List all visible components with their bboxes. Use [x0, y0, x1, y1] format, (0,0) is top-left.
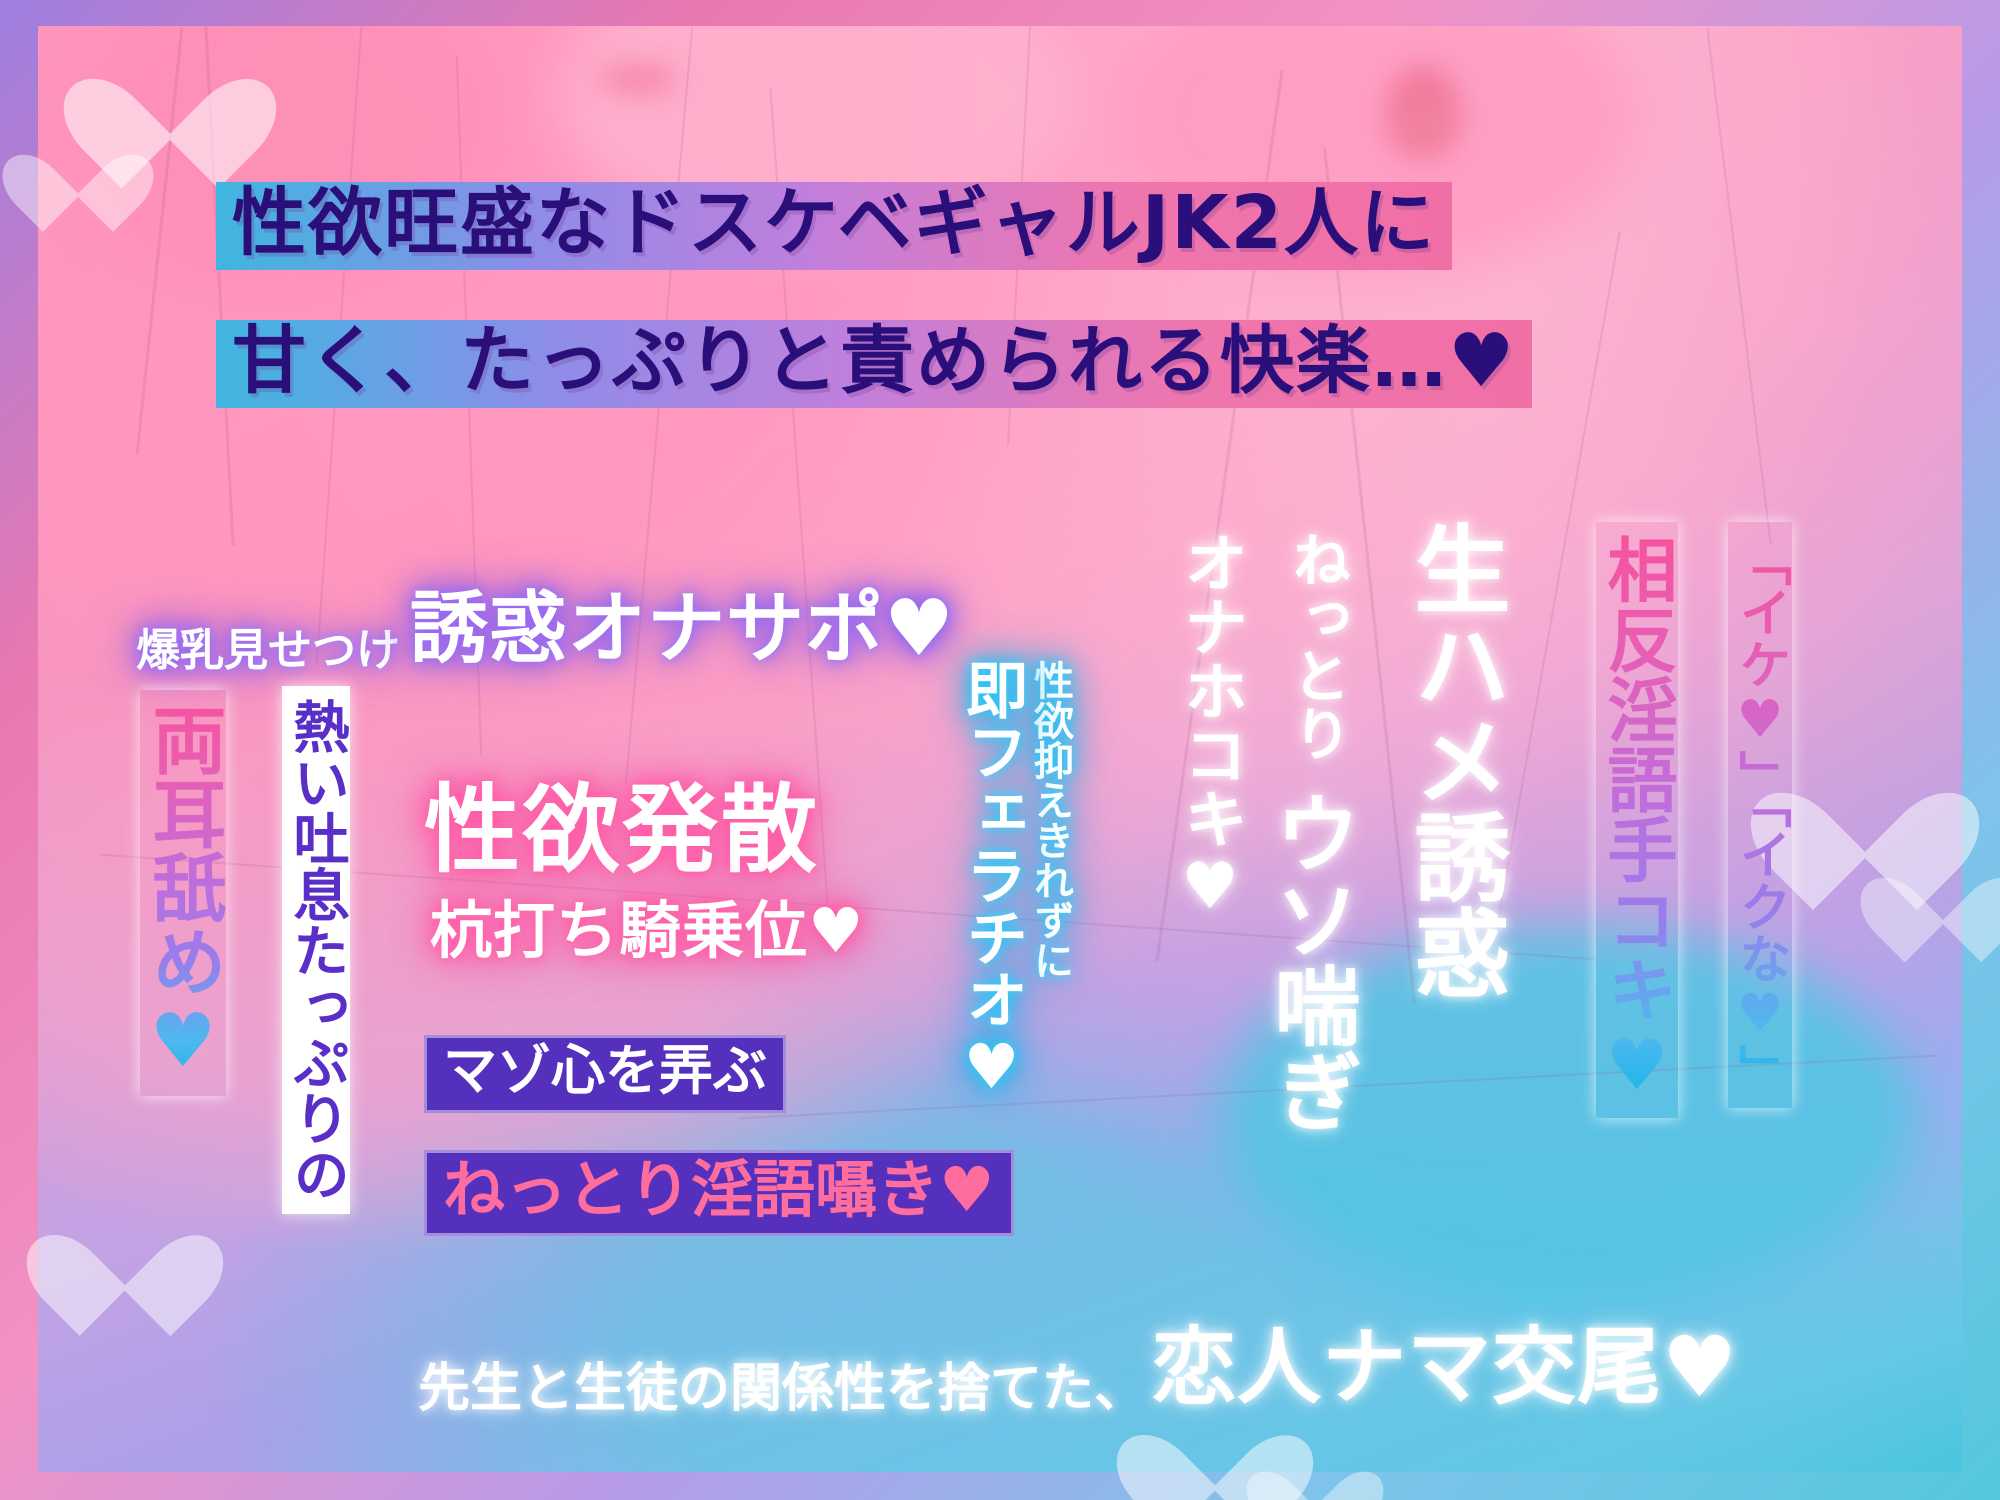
text-overlay-layer: 性欲旺盛なドスケベギャルJK2人に 甘く、たっぷりと責められる快楽…♥ 爆乳見せ… [0, 0, 2000, 1500]
onahokoki-label: オナホコキ♥ [1178, 530, 1242, 924]
restrain-small-label: 性欲抑えきれずに [1030, 660, 1070, 980]
onasapo-small-label: 爆乳見せつけ [136, 614, 400, 678]
bottom-row: 先生と生徒の関係性を捨てた、 恋人ナマ交尾♥ [418, 1300, 1738, 1421]
main-title-line1-wrapper: 性欲旺盛なドスケベギャルJK2人に [216, 182, 1452, 270]
hot-breath-label: 熱い吐息たっぷりの [284, 698, 349, 1202]
nettori-ingo-label: ねっとり淫語囁き♥ [424, 1150, 1014, 1236]
both-ears-label: 両耳舐め♥ [140, 702, 226, 1084]
bottom-small-label: 先生と生徒の関係性を捨てた、 [418, 1346, 1146, 1421]
nettori-uso-large-label: ウソ喘ぎ [1266, 790, 1352, 1134]
ike-ikuna-label: 「イケ♥」「イクな♥」 [1730, 534, 1790, 1096]
nettori-ingo-box-wrapper: ねっとり淫語囁き♥ [424, 1150, 1014, 1236]
main-title-line2-wrapper: 甘く、たっぷりと責められる快楽…♥ [216, 320, 1532, 408]
both-ears-box: 両耳舐め♥ [140, 690, 226, 1096]
seiyoku-hassan-label: 性欲発散 [424, 752, 820, 891]
mazo-box-wrapper: マゾ心を弄ぶ [424, 1035, 786, 1113]
main-title-line2: 甘く、たっぷりと責められる快楽…♥ [216, 320, 1532, 408]
souhan-box: 相反淫語手コキ♥ [1596, 522, 1678, 1118]
souhan-label: 相反淫語手コキ♥ [1596, 534, 1678, 1106]
banner-canvas: 性欲旺盛なドスケベギャルJK2人に 甘く、たっぷりと責められる快楽…♥ 爆乳見せ… [0, 0, 2000, 1500]
bottom-large-label: 恋人ナマ交尾♥ [1152, 1300, 1738, 1421]
kuiuchi-label: 杭打ち騎乗位♥ [430, 880, 865, 970]
onasapo-large-label: 誘惑オナサポ♥ [410, 566, 955, 678]
mazo-label: マゾ心を弄ぶ [424, 1035, 786, 1113]
main-title-line1: 性欲旺盛なドスケベギャルJK2人に [216, 182, 1452, 270]
soku-fera-label: 即フェラチオ♥ [960, 658, 1022, 1103]
onasapo-row: 爆乳見せつけ 誘惑オナサポ♥ [136, 566, 955, 678]
hot-breath-box: 熱い吐息たっぷりの [282, 686, 350, 1214]
nettori-uso-small-label: ねっとり [1288, 530, 1346, 762]
nama-hame-label: 生ハメ誘惑 [1406, 520, 1502, 1000]
ike-ikuna-box: 「イケ♥」「イクな♥」 [1728, 522, 1792, 1108]
